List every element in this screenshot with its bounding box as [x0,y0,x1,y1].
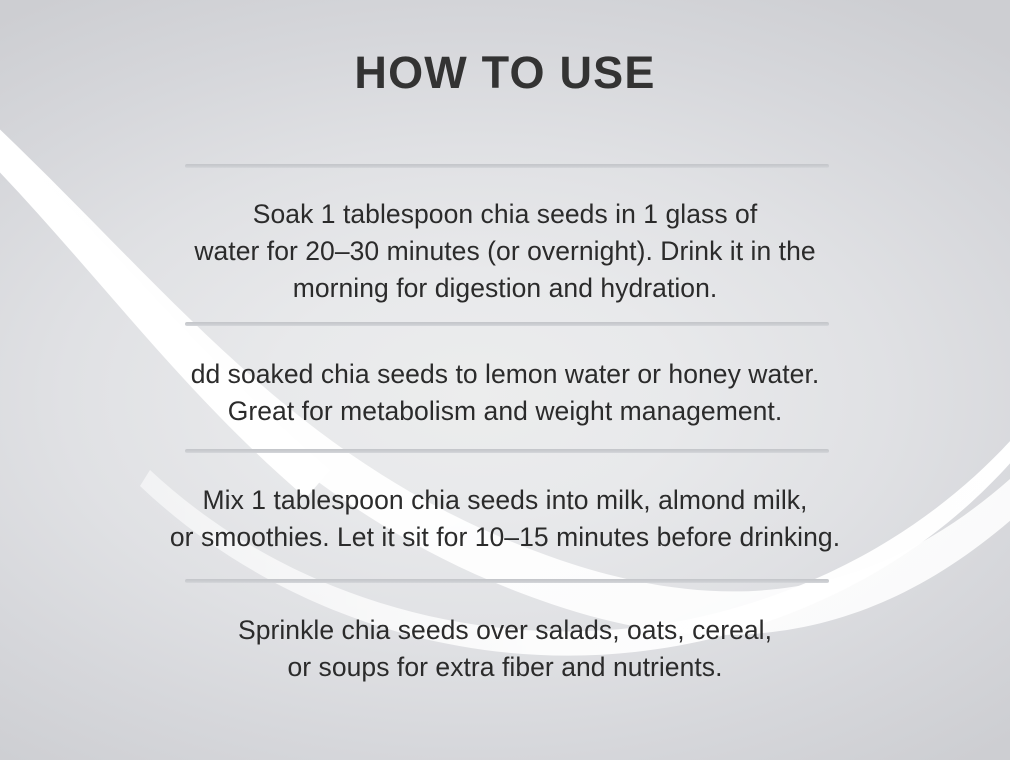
divider-3 [185,449,829,453]
step-4-line-1: Sprinkle chia seeds over salads, oats, c… [60,612,950,649]
poster-content: HOW TO USE Soak 1 tablespoon chia seeds … [0,0,1010,760]
step-4-line-2: or soups for extra fiber and nutrients. [60,649,950,686]
divider-4 [185,579,829,583]
step-3-line-2: or smoothies. Let it sit for 10–15 minut… [60,519,950,556]
step-2-line-2: Great for metabolism and weight manageme… [60,393,950,430]
step-block-3: Mix 1 tablespoon chia seeds into milk, a… [0,482,1010,556]
how-to-use-poster: HOW TO USE Soak 1 tablespoon chia seeds … [0,0,1010,760]
page-title: HOW TO USE [0,48,1010,98]
step-2-line-1: dd soaked chia seeds to lemon water or h… [60,356,950,393]
divider-1 [185,164,829,168]
step-block-1: Soak 1 tablespoon chia seeds in 1 glass … [0,196,1010,307]
step-3-line-1: Mix 1 tablespoon chia seeds into milk, a… [60,482,950,519]
step-1-line-2: water for 20–30 minutes (or overnight). … [60,233,950,270]
step-1-line-3: morning for digestion and hydration. [60,270,950,307]
step-1-line-1: Soak 1 tablespoon chia seeds in 1 glass … [60,196,950,233]
step-block-4: Sprinkle chia seeds over salads, oats, c… [0,612,1010,686]
step-block-2: dd soaked chia seeds to lemon water or h… [0,356,1010,430]
divider-2 [185,322,829,326]
